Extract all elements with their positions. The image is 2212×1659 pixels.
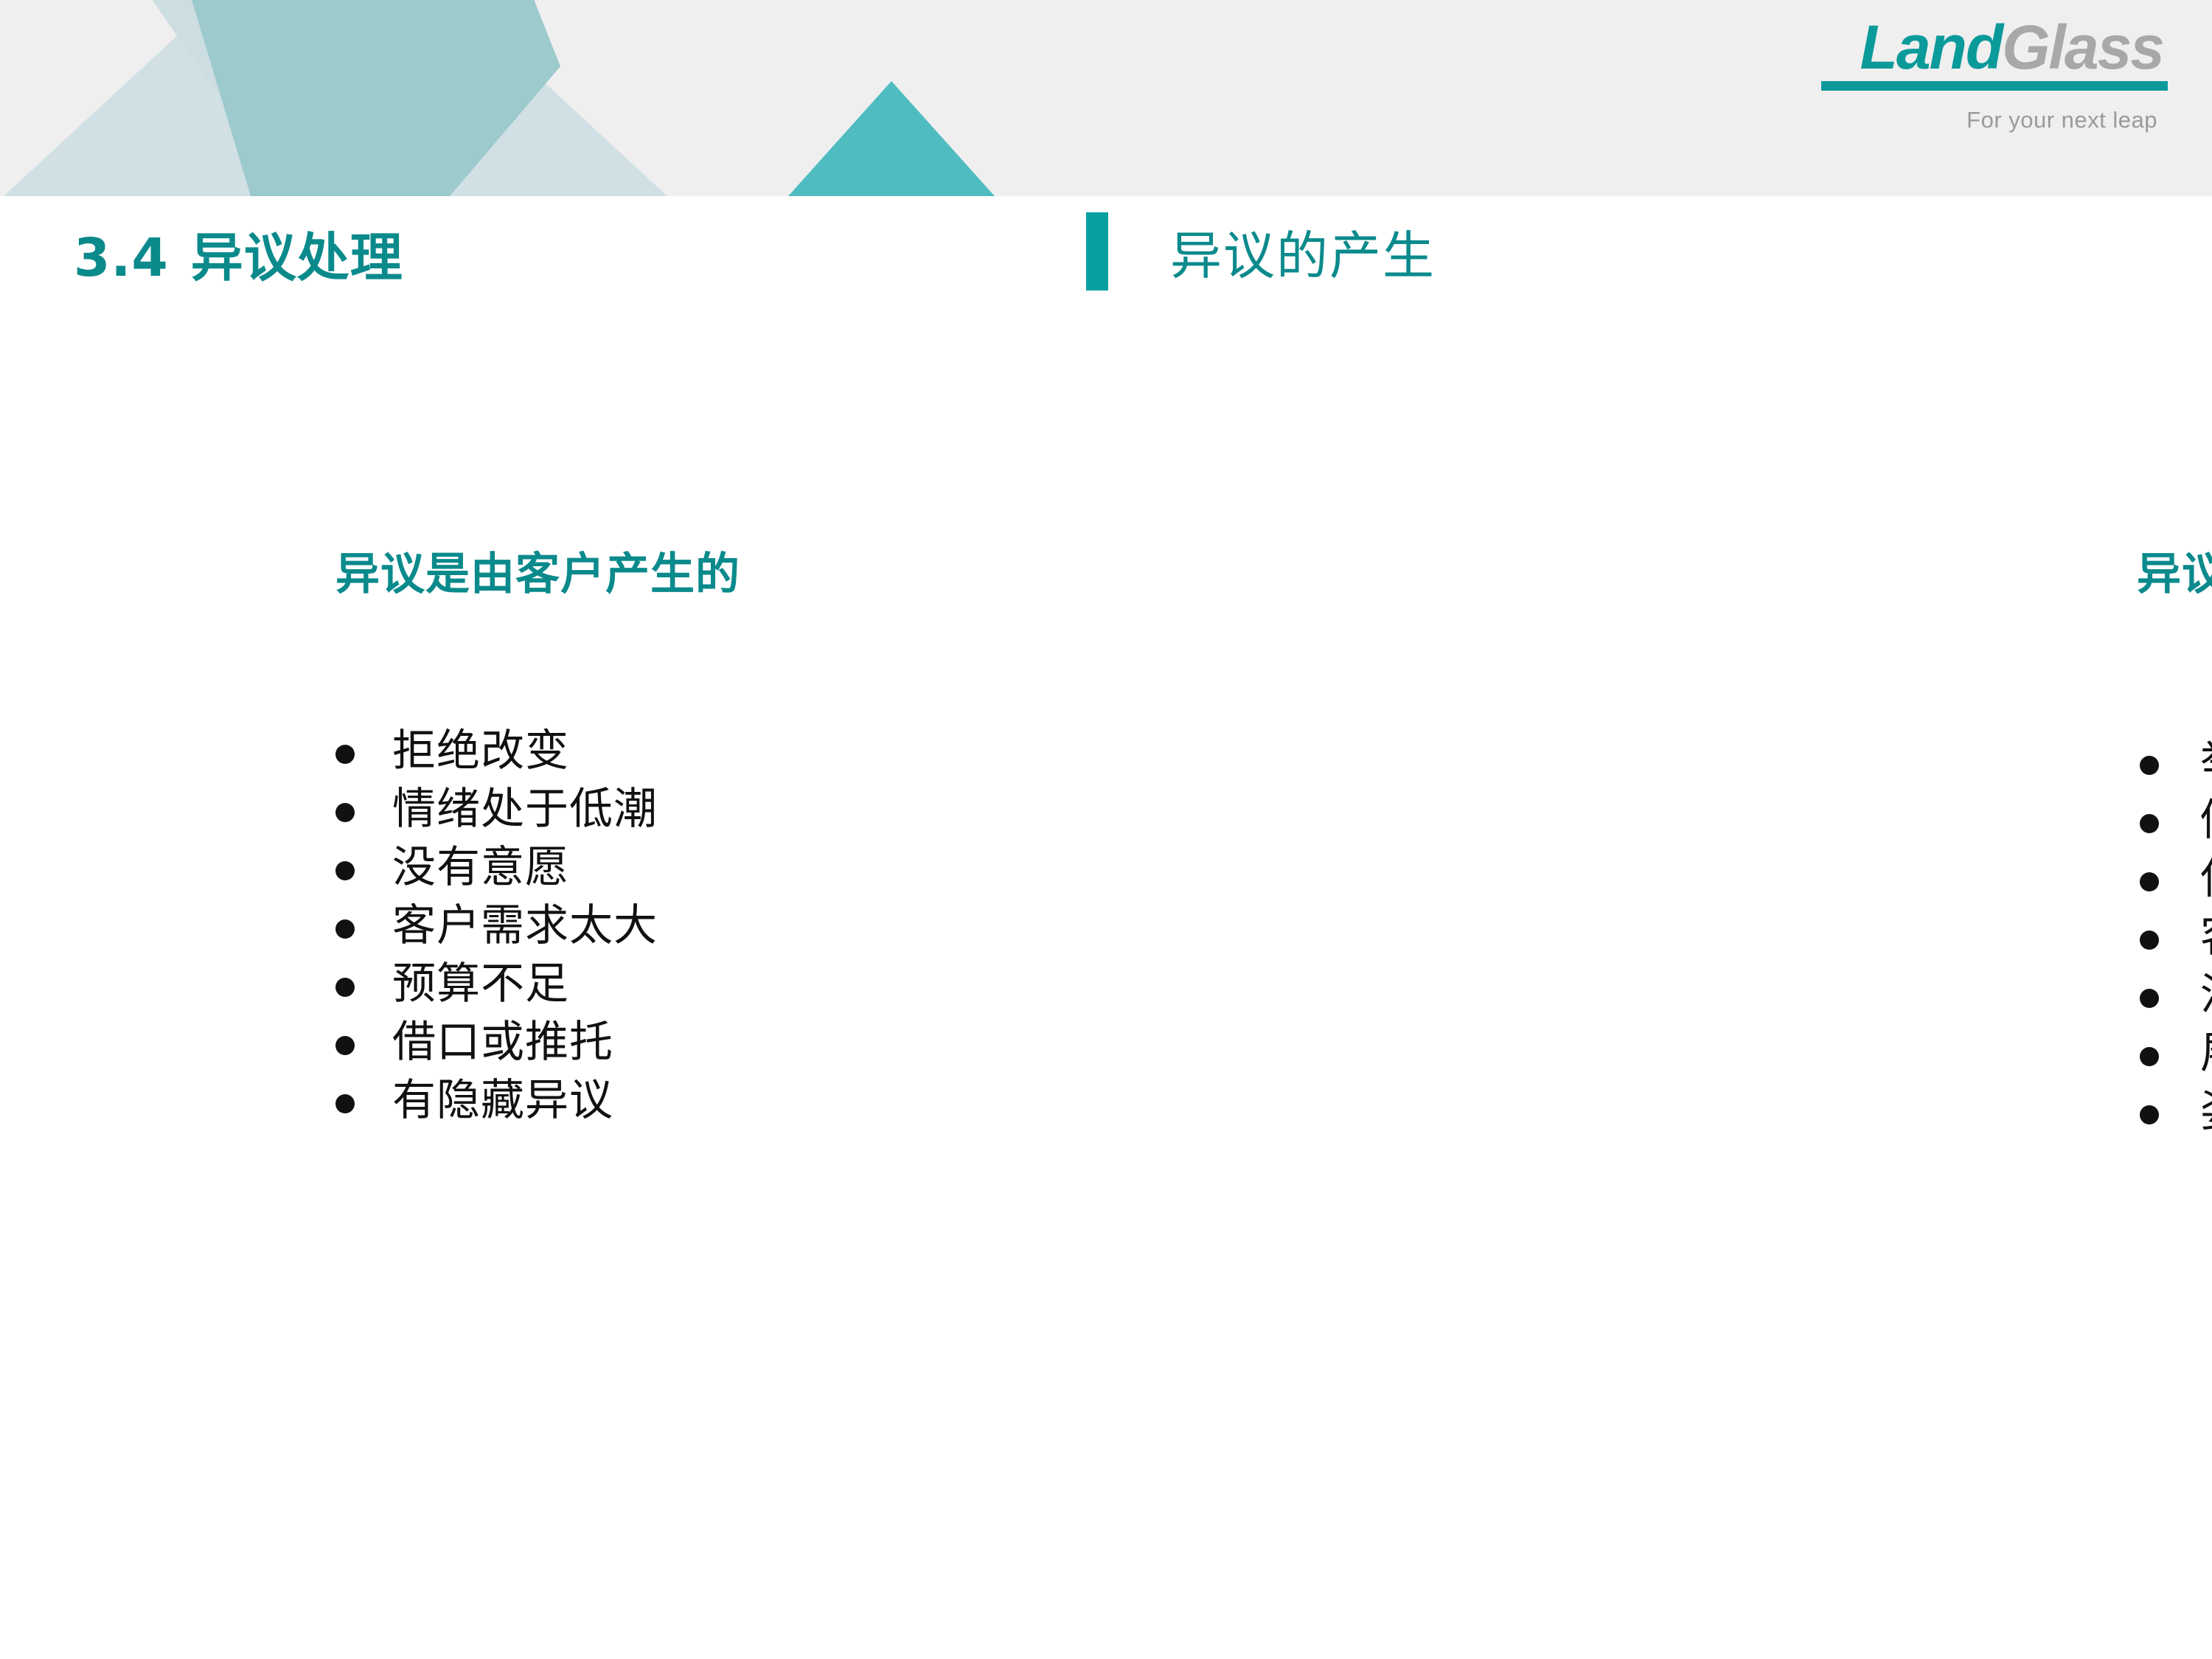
list-item-label: 借口或推托 — [392, 1018, 613, 1066]
bullet-dot-icon — [335, 978, 355, 997]
list-item-label: 有隐藏异议 — [392, 1076, 613, 1124]
bullet-dot-icon — [2140, 1105, 2159, 1124]
bullet-dot-icon — [335, 803, 355, 822]
list-item: 客户需求开发失败 — [2140, 912, 2212, 961]
list-item-label: 客户需求太大 — [392, 901, 658, 950]
logo-underline-bar — [1821, 81, 2168, 91]
list-item: 姿态过高，让客户理屈词穷 — [2140, 1087, 2212, 1135]
bullet-dot-icon — [2140, 989, 2159, 1008]
section-number: 3.4 — [74, 227, 169, 288]
list-item-label: 做了夸大的陈述 — [2200, 796, 2212, 844]
list-item: 借口或推托 — [335, 1018, 658, 1066]
bullet-dot-icon — [335, 1094, 355, 1113]
bullet-list: 举止态度无法赢得好感，取得信任做了夸大的陈述使用过多的专门术语客户需求开发失败沟… — [2140, 737, 2212, 1146]
bullet-list: 拒绝改变情绪处于低潮没有意愿客户需求太大预算不足借口或推托有隐藏异议 — [335, 726, 658, 1135]
logo-text-glass: Glass — [2002, 13, 2163, 82]
list-item: 展示失败 — [2140, 1029, 2212, 1077]
logo-text-land: Land — [1860, 13, 2003, 82]
header-band: LandGlass For your next leap — [0, 0, 2212, 196]
bullet-dot-icon — [335, 745, 355, 764]
subtitle-heading: 异议的产生 — [1086, 212, 1436, 291]
list-item-label: 举止态度无法赢得好感，取得信任 — [2200, 737, 2212, 786]
list-item: 沟通不当 — [2140, 970, 2212, 1019]
list-item: 使用过多的专门术语 — [2140, 854, 2212, 902]
list-item: 做了夸大的陈述 — [2140, 796, 2212, 844]
list-item-label: 客户需求开发失败 — [2200, 912, 2212, 961]
list-item: 举止态度无法赢得好感，取得信任 — [2140, 737, 2212, 786]
list-item-label: 展示失败 — [2200, 1029, 2212, 1077]
list-item-label: 预算不足 — [392, 959, 569, 1008]
list-item: 预算不足 — [335, 959, 658, 1008]
triangle-up-bright — [788, 81, 995, 196]
bullet-dot-icon — [2140, 814, 2159, 833]
subtitle-text: 异议的产生 — [1170, 215, 1436, 289]
list-item: 有隐藏异议 — [335, 1076, 658, 1124]
list-item-label: 没有意愿 — [392, 843, 569, 891]
bullet-dot-icon — [2140, 756, 2159, 775]
list-item: 没有意愿 — [335, 843, 658, 891]
list-item-label: 拒绝改变 — [392, 726, 569, 775]
list-item-label: 姿态过高，让客户理屈词穷 — [2200, 1087, 2212, 1135]
section-title-text: 异议处理 — [191, 227, 403, 288]
section-title: 3.4异议处理 — [74, 216, 403, 291]
list-item: 拒绝改变 — [335, 726, 658, 775]
logo-tagline: For your next leap — [1784, 107, 2168, 133]
bullet-dot-icon — [335, 919, 355, 939]
bullet-dot-icon — [2140, 872, 2159, 891]
list-item: 情绪处于低潮 — [335, 785, 658, 833]
bullet-dot-icon — [335, 1036, 355, 1055]
bullet-dot-icon — [335, 861, 355, 880]
list-item-label: 沟通不当 — [2200, 970, 2212, 1019]
list-item-label: 情绪处于低潮 — [392, 785, 658, 833]
landglass-logo: LandGlass For your next leap — [1784, 16, 2168, 133]
subtitle-accent-bar — [1086, 212, 1108, 291]
column-heading: 异议是由客户产生的 — [335, 538, 740, 602]
list-item: 客户需求太大 — [335, 901, 658, 950]
column-heading: 异议是销售人员产生的 — [2137, 538, 2212, 602]
logo-wordmark: LandGlass — [1784, 16, 2168, 78]
bullet-dot-icon — [2140, 1047, 2159, 1066]
bullet-dot-icon — [2140, 931, 2159, 950]
list-item-label: 使用过多的专门术语 — [2200, 854, 2212, 902]
